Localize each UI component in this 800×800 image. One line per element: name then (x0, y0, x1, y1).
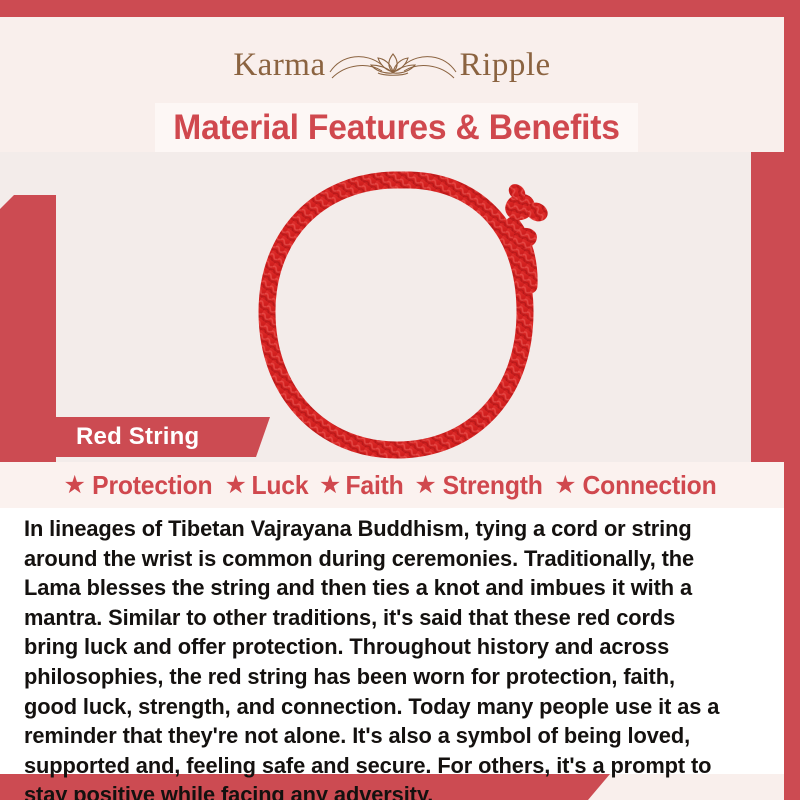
lotus-flourish-icon (328, 42, 458, 88)
feature-label-connection: Connection (583, 470, 717, 501)
star-icon: ★ (64, 473, 86, 498)
star-icon: ★ (414, 473, 436, 498)
brand-name-right: Ripple (460, 49, 551, 82)
feature-label-protection: Protection (92, 470, 212, 501)
star-icon: ★ (225, 473, 247, 498)
feature-item-connection: ★ Connection (554, 470, 720, 501)
red-string-bracelet-image (225, 162, 575, 462)
description-panel: In lineages of Tibetan Vajrayana Buddhis… (0, 508, 784, 774)
feature-item-strength: ★ Strength (414, 470, 545, 501)
brand-name-left: Karma (233, 49, 325, 82)
feature-item-faith: ★ Faith (319, 470, 406, 501)
material-label: Red String (20, 423, 199, 451)
page-title: Material Features & Benefits (173, 108, 620, 148)
feature-item-luck: ★ Luck (225, 470, 310, 501)
feature-label-strength: Strength (442, 470, 542, 501)
description-text: In lineages of Tibetan Vajrayana Buddhis… (24, 514, 726, 800)
material-label-banner: Red String (20, 417, 270, 457)
feature-label-luck: Luck (251, 470, 308, 501)
feature-list: ★ Protection ★ Luck ★ Faith ★ Strength ★… (0, 462, 784, 508)
feature-item-protection: ★ Protection (64, 470, 216, 501)
infographic-page: Karma Ripple Ma (0, 0, 800, 800)
feature-label-faith: Faith (346, 470, 404, 501)
star-icon: ★ (554, 473, 576, 498)
frame-border-right (784, 0, 800, 800)
star-icon: ★ (319, 473, 341, 498)
page-title-band: Material Features & Benefits (155, 103, 638, 152)
frame-border-top (0, 0, 800, 17)
brand-logo: Karma Ripple (0, 34, 784, 96)
